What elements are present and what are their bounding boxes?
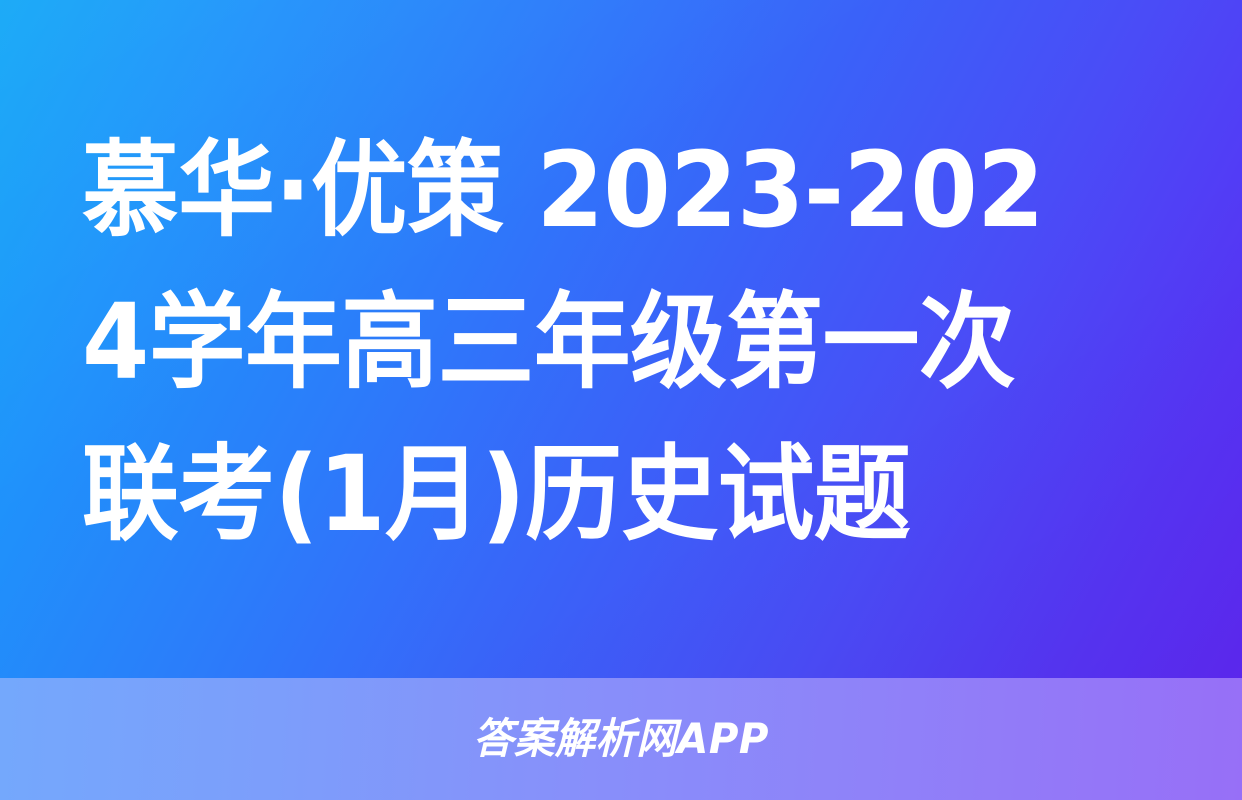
app-watermark: 答案解析网APP — [473, 718, 769, 760]
poster-hero-gradient: 慕华·优策 2023-2024学年高三年级第一次联考(1月)历史试题 — [0, 0, 1242, 678]
watermark-band: 答案解析网APP — [0, 678, 1242, 800]
exam-poster: 慕华·优策 2023-2024学年高三年级第一次联考(1月)历史试题 答案解析网… — [0, 0, 1242, 800]
page-title: 慕华·优策 2023-2024学年高三年级第一次联考(1月)历史试题 — [82, 114, 1086, 570]
title-block: 慕华·优策 2023-2024学年高三年级第一次联考(1月)历史试题 — [82, 114, 1162, 570]
